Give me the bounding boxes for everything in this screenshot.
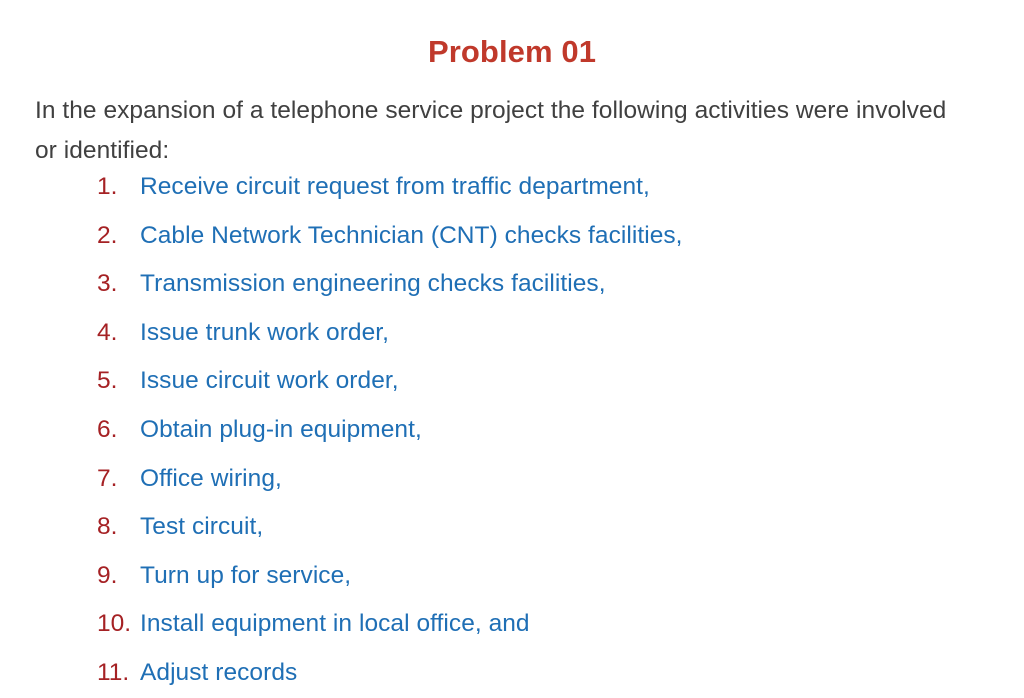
list-item-number: 8. — [97, 503, 140, 552]
list-item-label: Issue circuit work order, — [140, 357, 399, 406]
list-item-number: 9. — [97, 552, 140, 601]
list-item-number: 2. — [97, 212, 140, 261]
list-item-label: Test circuit, — [140, 503, 263, 552]
list-item-label: Transmission engineering checks faciliti… — [140, 260, 606, 309]
list-item-label: Issue trunk work order, — [140, 309, 389, 358]
list-item: 1.Receive circuit request from traffic d… — [97, 163, 987, 212]
list-item-label: Turn up for service, — [140, 552, 351, 601]
list-item-label: Office wiring, — [140, 455, 282, 504]
activity-list: 1.Receive circuit request from traffic d… — [97, 163, 987, 698]
list-item: 9.Turn up for service, — [97, 552, 987, 601]
list-item-number: 7. — [97, 455, 140, 504]
list-item-number: 5. — [97, 357, 140, 406]
list-item: 4.Issue trunk work order, — [97, 309, 987, 358]
list-item-label: Cable Network Technician (CNT) checks fa… — [140, 212, 683, 261]
list-item: 6.Obtain plug-in equipment, — [97, 406, 987, 455]
list-item-number: 10. — [97, 600, 140, 649]
slide-canvas: Problem 01 In the expansion of a telepho… — [0, 0, 1024, 690]
list-item-label: Adjust records — [140, 649, 297, 698]
list-item-label: Obtain plug-in equipment, — [140, 406, 422, 455]
list-item: 5.Issue circuit work order, — [97, 357, 987, 406]
list-item: 8.Test circuit, — [97, 503, 987, 552]
list-item: 10.Install equipment in local office, an… — [97, 600, 987, 649]
list-item: 11.Adjust records — [97, 649, 987, 698]
page-title: Problem 01 — [0, 34, 1024, 70]
list-item-number: 11. — [97, 649, 140, 698]
list-item-number: 1. — [97, 163, 140, 212]
list-item: 7.Office wiring, — [97, 455, 987, 504]
list-item-number: 4. — [97, 309, 140, 358]
list-item: 2.Cable Network Technician (CNT) checks … — [97, 212, 987, 261]
list-item: 3.Transmission engineering checks facili… — [97, 260, 987, 309]
intro-paragraph: In the expansion of a telephone service … — [35, 91, 970, 171]
list-item-number: 6. — [97, 406, 140, 455]
list-item-number: 3. — [97, 260, 140, 309]
list-item-label: Receive circuit request from traffic dep… — [140, 163, 650, 212]
list-item-label: Install equipment in local office, and — [140, 600, 530, 649]
